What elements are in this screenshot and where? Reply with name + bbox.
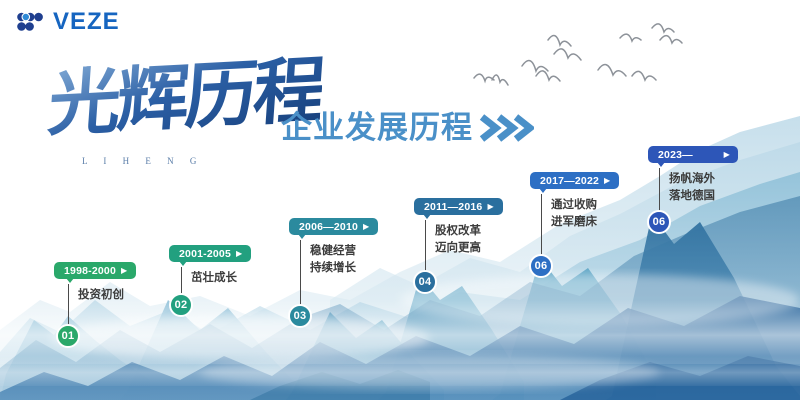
milestone-number: 02 <box>175 299 188 311</box>
milestone-number-badge[interactable]: 02 <box>169 293 193 317</box>
milestone-number-badge[interactable]: 06 <box>529 254 553 278</box>
milestone-line: 进军磨床 <box>551 213 597 230</box>
play-arrow-icon: ▶ <box>487 203 493 211</box>
milestone-period-badge[interactable]: 1998-2000 ▶ <box>54 262 136 279</box>
milestone-period-badge[interactable]: 2001-2005 ▶ <box>169 245 251 262</box>
infographic-canvas: VEZE 光辉历程 L I H E N G 企业发展历程 1998-2000 ▶… <box>0 0 800 400</box>
milestone-description: 稳健经营 持续增长 <box>310 242 356 276</box>
milestone-description: 投资初创 <box>78 286 124 303</box>
play-arrow-icon: ▶ <box>604 177 610 185</box>
milestone-description: 股权改革 迈向更高 <box>435 222 481 256</box>
milestone-period-label: 2017—2022 <box>540 175 599 187</box>
milestone-period-label: 2001-2005 <box>179 248 231 260</box>
calligraphy-title: 光辉历程 L I H E N G <box>46 60 286 175</box>
milestone-line: 通过收购 <box>551 196 597 213</box>
milestone-line: 迈向更高 <box>435 239 481 256</box>
milestone-line: 股权改革 <box>435 222 481 239</box>
milestone-line: 扬帆海外 <box>669 170 715 187</box>
milestone-line: 落地德国 <box>669 187 715 204</box>
triple-chevron-right-icon <box>478 112 534 144</box>
milestone-number: 06 <box>653 216 666 228</box>
milestone-period-label: 2006—2010 <box>299 221 358 233</box>
veze-dots-logo-icon <box>16 10 46 34</box>
milestone-number-badge[interactable]: 04 <box>413 270 437 294</box>
flying-birds-icon <box>470 18 690 113</box>
milestone-line: 投资初创 <box>78 286 124 303</box>
milestone-period-label: 2023— <box>658 149 693 161</box>
milestone-period-label: 2011—2016 <box>424 201 482 213</box>
play-arrow-icon: ▶ <box>121 267 127 275</box>
milestone-number: 01 <box>62 330 75 342</box>
brand-logo[interactable]: VEZE <box>16 10 120 34</box>
milestone-line: 持续增长 <box>310 259 356 276</box>
milestone-number: 03 <box>294 310 307 322</box>
milestone-period-badge[interactable]: 2023— ▶ <box>648 146 738 163</box>
milestone-number-badge[interactable]: 06 <box>647 210 671 234</box>
milestone-number: 04 <box>419 276 432 288</box>
play-arrow-icon: ▶ <box>724 151 730 159</box>
milestone-number: 06 <box>535 260 548 272</box>
milestone-period-label: 1998-2000 <box>64 265 116 277</box>
milestone-description: 扬帆海外 落地德国 <box>669 170 715 204</box>
play-arrow-icon: ▶ <box>236 250 242 258</box>
calligraphy-pinyin: L I H E N G <box>82 156 203 166</box>
milestone-description: 通过收购 进军磨床 <box>551 196 597 230</box>
milestone-period-badge[interactable]: 2017—2022 ▶ <box>530 172 619 189</box>
page-title-text: 企业发展历程 <box>281 113 473 144</box>
milestone-description: 茁壮成长 <box>191 269 237 286</box>
page-title: 企业发展历程 <box>281 112 534 144</box>
play-arrow-icon: ▶ <box>363 223 369 231</box>
milestone-number-badge[interactable]: 03 <box>288 304 312 328</box>
brand-wordmark: VEZE <box>53 10 120 34</box>
milestone-period-badge[interactable]: 2011—2016 ▶ <box>414 198 503 215</box>
milestone-period-badge[interactable]: 2006—2010 ▶ <box>289 218 378 235</box>
milestone-line: 稳健经营 <box>310 242 356 259</box>
milestone-number-badge[interactable]: 01 <box>56 324 80 348</box>
milestone-line: 茁壮成长 <box>191 269 237 286</box>
